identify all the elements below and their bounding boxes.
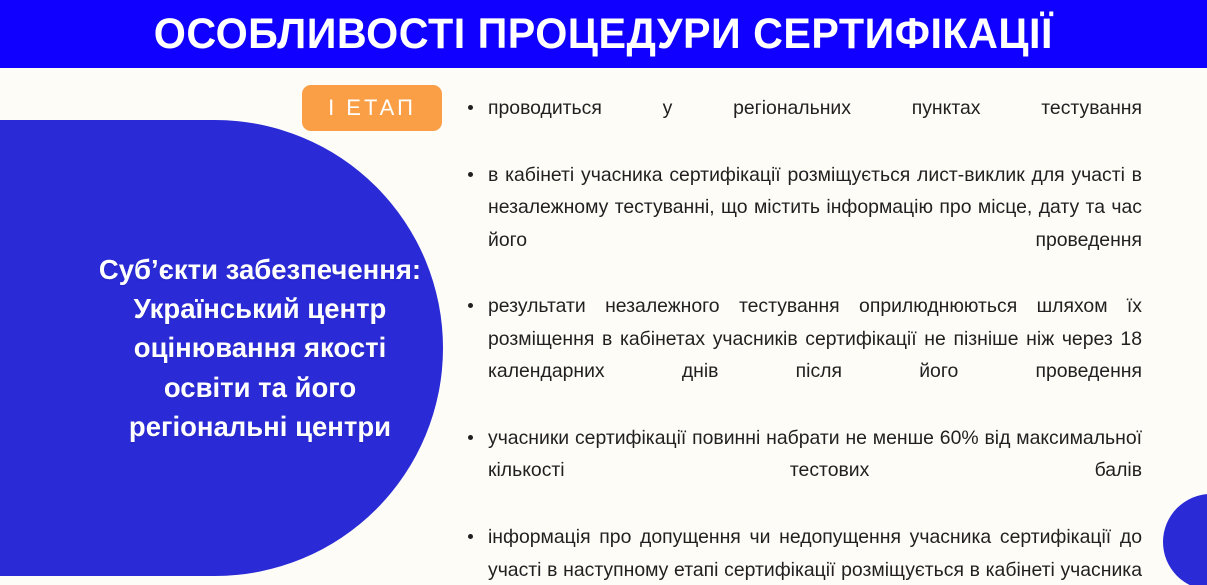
bullet-dot-icon [468,435,473,440]
stage-badge-label: I ЕТАП [328,97,416,119]
page-title: ОСОБЛИВОСТІ ПРОЦЕДУРИ СЕРТИФІКАЦІЇ [154,13,1053,56]
bullet-dot-icon [468,303,473,308]
subjects-panel: Суб’єкти забезпечення: Український центр… [0,120,443,576]
subjects-panel-text: Суб’єкти забезпечення: Український центр… [0,250,425,445]
slide-canvas: ОСОБЛИВОСТІ ПРОЦЕДУРИ СЕРТИФІКАЦІЇ Суб’є… [0,0,1207,585]
list-item-text: інформація про допущення чи недопущення … [488,521,1142,585]
stage-badge: I ЕТАП [302,85,442,131]
header-banner: ОСОБЛИВОСТІ ПРОЦЕДУРИ СЕРТИФІКАЦІЇ [0,0,1207,68]
list-item-text: в кабінеті учасника сертифікації розміщу… [488,159,1142,289]
list-item: проводиться у регіональних пунктах тесту… [462,92,1142,157]
bullet-dot-icon [468,534,473,539]
list-item: результати незалежного тестування оприлю… [462,290,1142,420]
list-item-text: результати незалежного тестування оприлю… [488,290,1142,420]
list-item-text: учасники сертифікації повинні набрати не… [488,422,1142,519]
list-item: інформація про допущення чи недопущення … [462,521,1142,585]
bullet-dot-icon [468,105,473,110]
list-item-text: проводиться у регіональних пунктах тесту… [488,92,1142,157]
stage-details-list: проводиться у регіональних пунктах тесту… [462,92,1142,585]
list-item: учасники сертифікації повинні набрати не… [462,422,1142,519]
list-item: в кабінеті учасника сертифікації розміщу… [462,159,1142,289]
bullet-dot-icon [468,172,473,177]
decorative-circle [1163,494,1207,585]
